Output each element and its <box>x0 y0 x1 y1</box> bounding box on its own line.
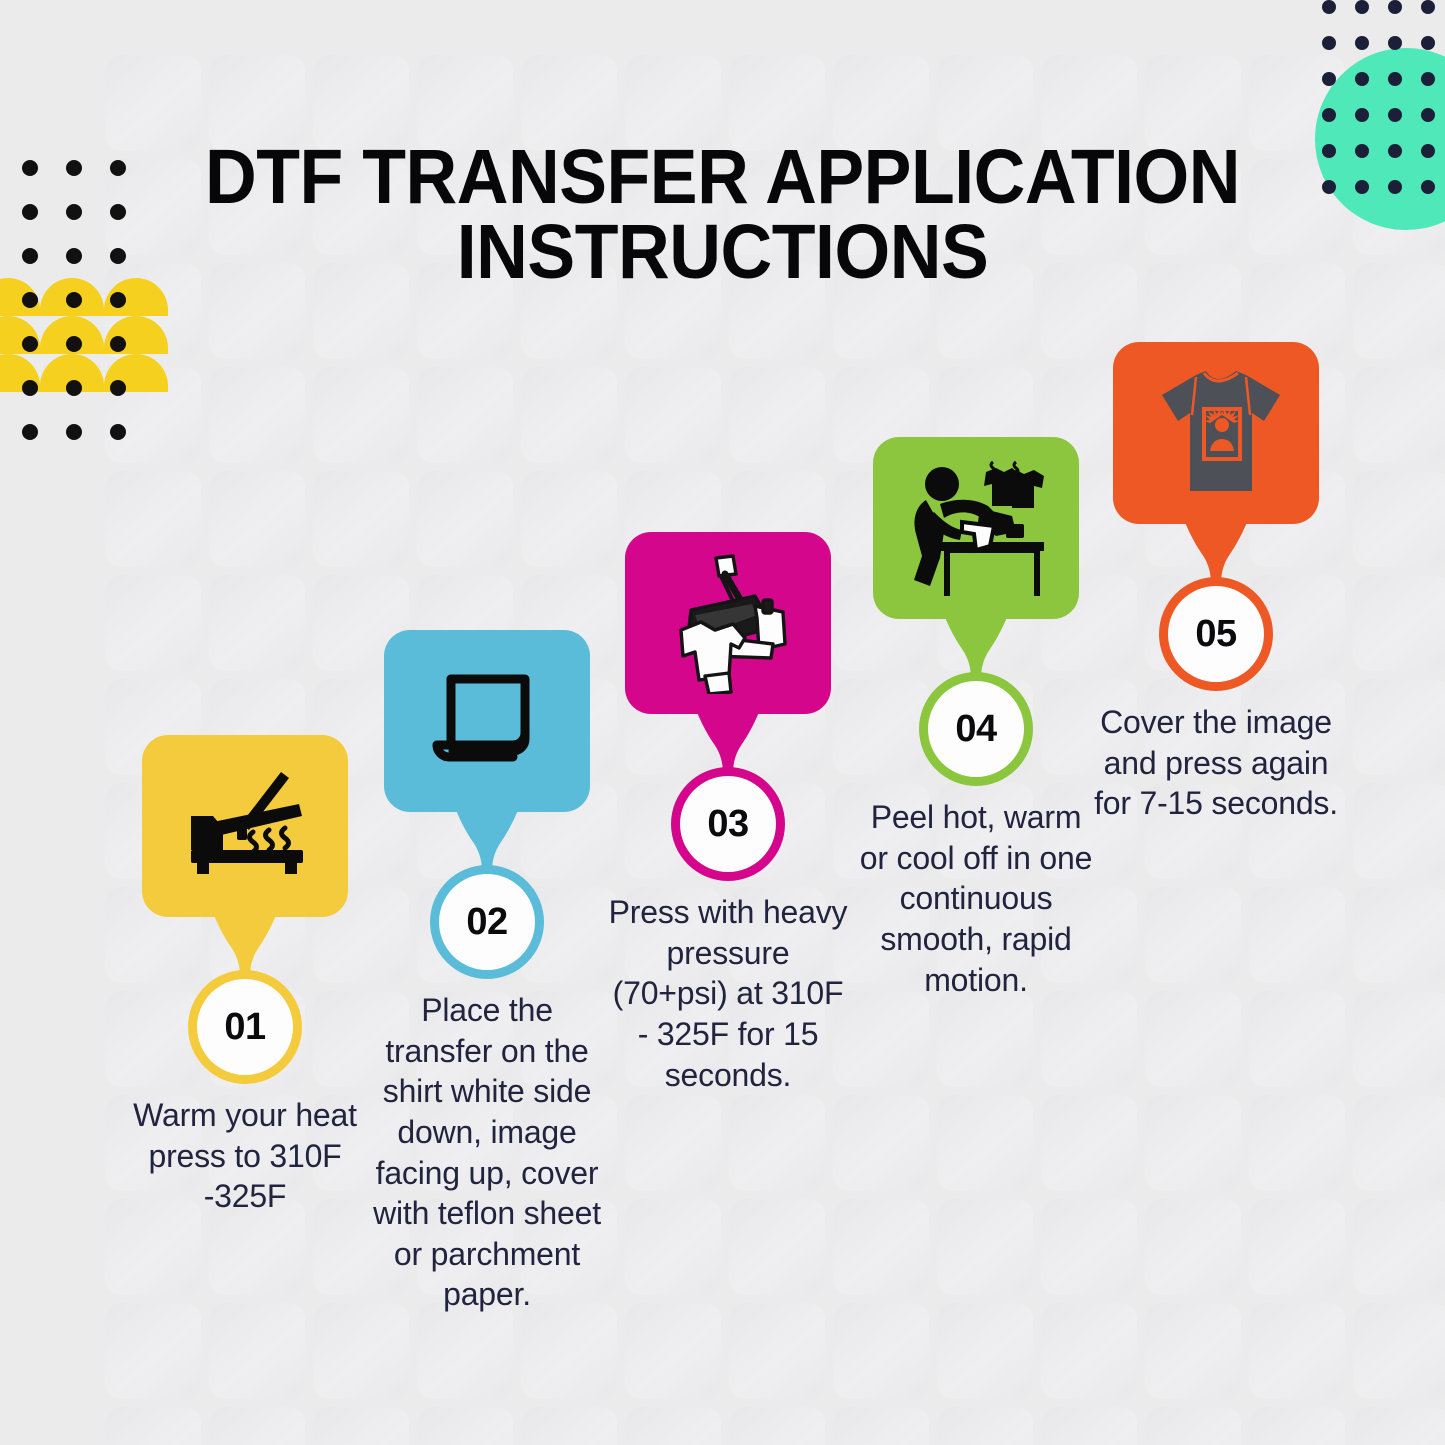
step-02-number: 02 <box>466 901 507 944</box>
step-01-number: 01 <box>224 1006 265 1049</box>
page-title-container: DTF TRANSFER APPLICATION INSTRUCTIONS <box>0 140 1445 291</box>
step-04-connector <box>873 617 1079 691</box>
step-04-number-badge: 04 <box>928 681 1024 777</box>
step-03-card[interactable] <box>625 532 831 714</box>
step-01[interactable]: 01 Warm your heat press to 310F -325F <box>117 735 373 1217</box>
printed-tshirt-icon <box>1148 367 1284 499</box>
heat-press-machine-icon <box>659 552 797 694</box>
step-02-card[interactable] <box>384 630 590 812</box>
step-02[interactable]: 02 Place the transfer on the shirt white… <box>359 630 615 1315</box>
page-title: DTF TRANSFER APPLICATION INSTRUCTIONS <box>199 140 1245 291</box>
step-05-connector <box>1113 522 1319 596</box>
step-05-number: 05 <box>1195 613 1236 656</box>
step-03[interactable]: 03 Press with heavy pressure (70+psi) at… <box>600 532 856 1095</box>
step-05-card[interactable] <box>1113 342 1319 524</box>
step-01-text: Warm your heat press to 310F -325F <box>117 1095 373 1217</box>
step-02-connector <box>384 810 590 884</box>
step-05-number-badge: 05 <box>1168 586 1264 682</box>
step-02-text: Place the transfer on the shirt white si… <box>359 990 615 1315</box>
step-03-number-badge: 03 <box>680 776 776 872</box>
step-04-card[interactable] <box>873 437 1079 619</box>
step-03-number: 03 <box>707 803 748 846</box>
step-01-number-badge: 01 <box>197 979 293 1075</box>
step-04[interactable]: 04 Peel hot, warm or cool off in one con… <box>848 437 1104 1000</box>
heat-press-open-icon <box>177 766 313 886</box>
step-04-text: Peel hot, warm or cool off in one contin… <box>848 797 1104 1000</box>
infographic-poster: DTF TRANSFER APPLICATION INSTRUCTIONS <box>0 0 1445 1445</box>
step-05[interactable]: 05 Cover the image and press again for 7… <box>1088 342 1344 824</box>
step-01-connector <box>142 915 348 989</box>
step-03-text: Press with heavy pressure (70+psi) at 31… <box>600 892 856 1095</box>
step-04-number: 04 <box>955 708 996 751</box>
person-pressing-shirt-icon <box>900 460 1052 596</box>
step-02-number-badge: 02 <box>439 874 535 970</box>
transfer-sheet-icon <box>427 661 547 781</box>
step-03-connector <box>625 712 831 786</box>
step-05-text: Cover the image and press again for 7-15… <box>1088 702 1344 824</box>
step-01-card[interactable] <box>142 735 348 917</box>
